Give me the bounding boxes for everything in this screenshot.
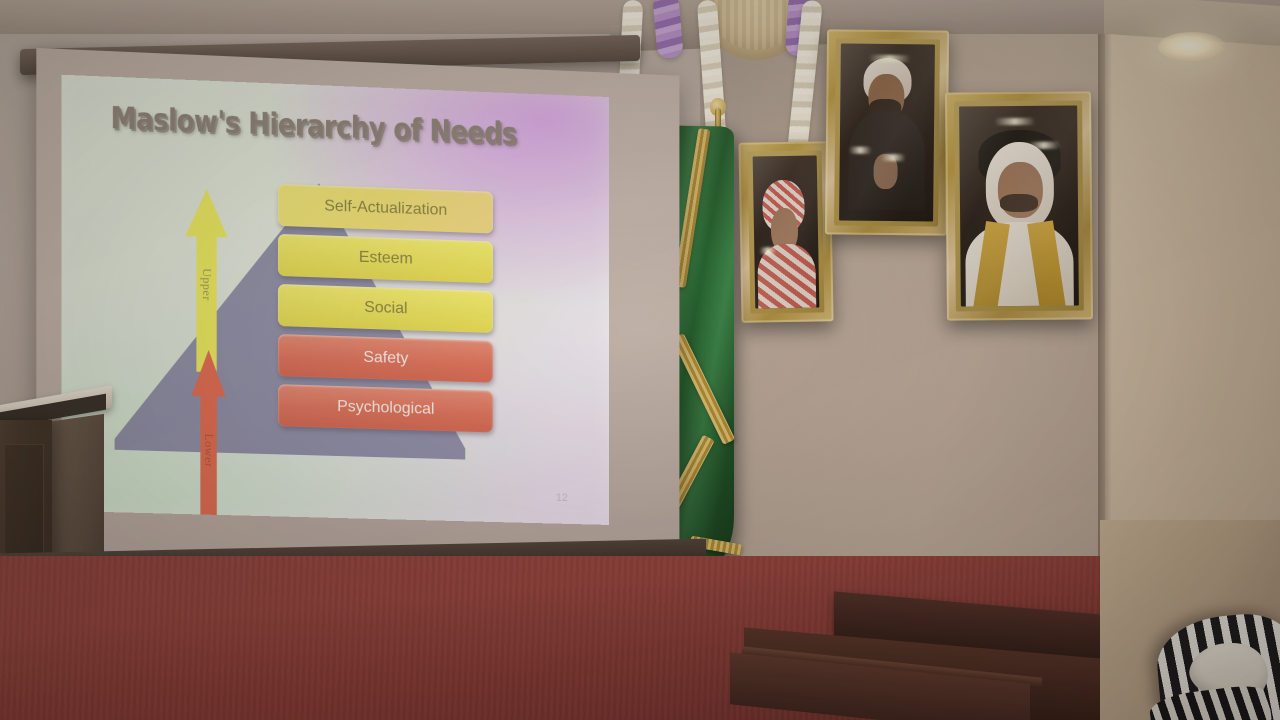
portrait-left [738, 141, 833, 323]
level-esteem: Esteem [278, 234, 493, 283]
level-safety: Safety [278, 334, 493, 383]
glass-glare [849, 146, 872, 153]
purple-garland [652, 0, 683, 59]
lower-arrow-label: Lower [201, 433, 216, 467]
portrait-center [825, 29, 949, 235]
portrait-image [839, 44, 935, 222]
frame-mat [834, 38, 940, 226]
portrait-image [959, 105, 1079, 306]
level-label: Social [364, 299, 407, 318]
slide-number: 12 [556, 492, 568, 504]
level-self-actualization: Self-Actualization [278, 184, 493, 234]
room-scene: Maslow's Hierarchy of Needs Upper Lower … [0, 0, 1280, 720]
hierarchy-levels: Self-Actualization Esteem Social Safety … [278, 184, 493, 441]
upper-arrow-label: Upper [199, 268, 214, 301]
ceiling-light-icon [1158, 32, 1226, 62]
level-label: Self-Actualization [324, 197, 447, 219]
glass-glare [881, 154, 906, 161]
level-psychological: Psychological [278, 384, 493, 432]
page-title: Maslow's Hierarchy of Needs [111, 101, 517, 152]
frame-mat [954, 100, 1084, 311]
projected-slide: Maslow's Hierarchy of Needs Upper Lower … [62, 75, 609, 525]
portrait-right [945, 91, 1093, 320]
glass-glare [995, 118, 1035, 125]
level-label: Esteem [359, 249, 413, 269]
glass-glare [869, 54, 910, 61]
level-label: Safety [363, 349, 408, 368]
frame-mat [748, 150, 825, 313]
portrait-image [753, 155, 820, 308]
glass-glare [1028, 142, 1061, 149]
beard-shape [1000, 194, 1038, 212]
glass-glare [759, 247, 776, 254]
level-label: Psychological [337, 398, 434, 419]
level-social: Social [278, 284, 493, 333]
